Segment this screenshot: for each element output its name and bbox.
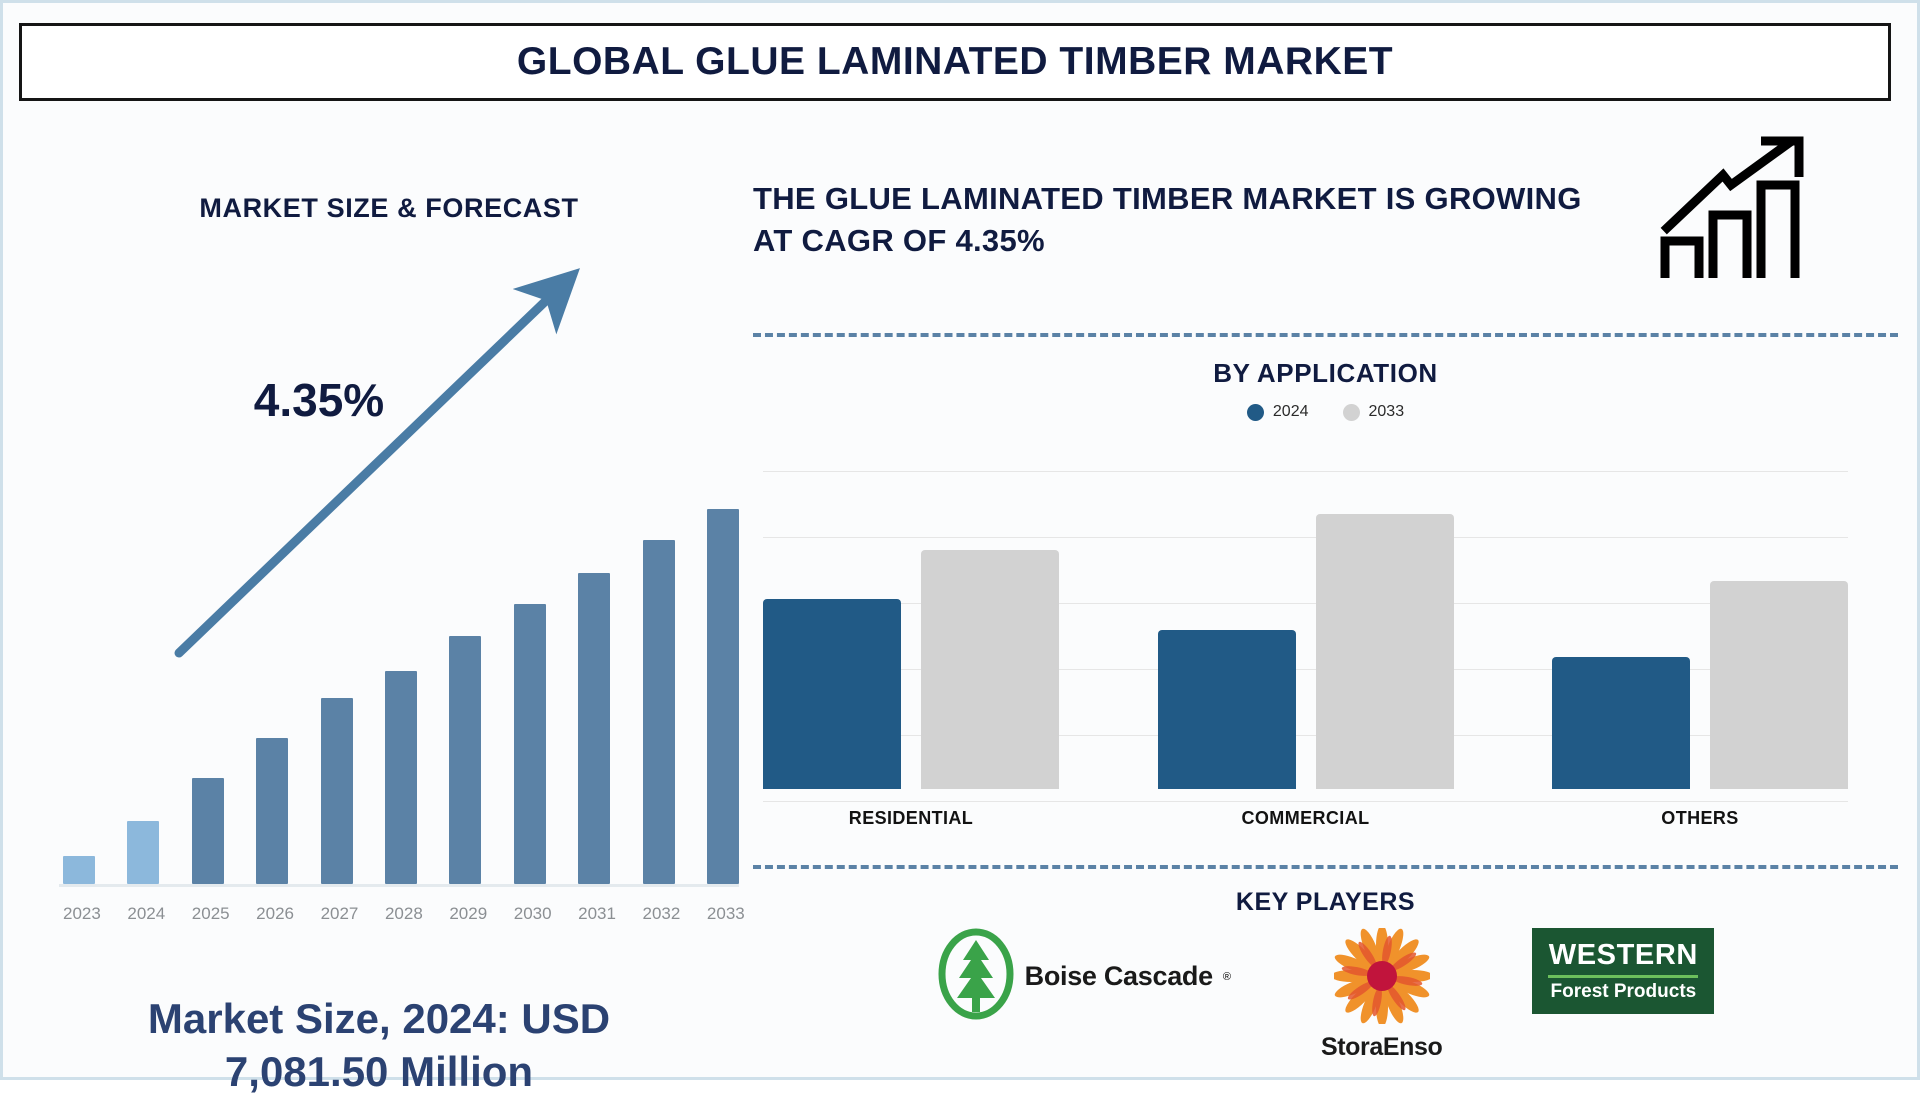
page-title: GLOBAL GLUE LAMINATED TIMBER MARKET [517,40,1393,84]
year-label: 2025 [192,904,224,924]
year-axis-labels: 2023 2024 2025 2026 2027 2028 2029 2030 … [63,897,739,931]
year-label: 2028 [385,904,417,924]
group-others [1552,581,1848,789]
year-label: 2033 [707,904,739,924]
legend-item-2033: 2033 [1343,403,1405,421]
bar-others-2033 [1710,581,1848,789]
gridline [763,471,1848,472]
registered-mark: ® [1223,971,1231,983]
market-size-value: Market Size, 2024: USD 7,081.50 Million [29,993,729,1098]
growth-bar-chart-arrow-icon [1653,133,1813,283]
category-label-commercial: COMMERCIAL [1158,808,1454,829]
bar-2029 [449,636,481,884]
key-players-list: Boise Cascade ® [753,928,1898,1063]
bar-2028 [385,671,417,884]
right-panel: THE GLUE LAMINATED TIMBER MARKET IS GROW… [748,113,1908,1063]
market-size-forecast-panel: MARKET SIZE & FORECAST 4.35% [19,113,739,1063]
market-size-heading: MARKET SIZE & FORECAST [129,193,649,224]
bar-2033 [707,509,739,884]
year-label: 2032 [643,904,675,924]
year-label: 2024 [127,904,159,924]
player-boise-cascade: Boise Cascade ® [937,928,1231,1025]
group-commercial [1158,514,1454,789]
player-western-forest-products: WESTERN Forest Products [1532,928,1714,1014]
market-size-line-1: Market Size, 2024: USD [29,993,729,1046]
by-application-title: BY APPLICATION [753,358,1898,389]
year-label: 2026 [256,904,288,924]
bar-2025 [192,778,224,884]
market-size-bar-chart: 2023 2024 2025 2026 2027 2028 2029 2030 … [49,533,739,973]
legend-label-2024: 2024 [1273,403,1309,421]
key-players-title: KEY PLAYERS [753,888,1898,917]
bar-others-2024 [1552,657,1690,789]
boise-cascade-label: Boise Cascade [1025,961,1213,992]
bar-2024 [127,821,159,884]
bar-series [63,564,739,884]
year-label: 2027 [321,904,353,924]
divider-bottom [753,865,1898,869]
legend-label-2033: 2033 [1369,403,1405,421]
application-chart-legend: 2024 2033 [753,403,1898,421]
infographic-page: GLOBAL GLUE LAMINATED TIMBER MARKET MARK… [0,0,1920,1080]
category-label-others: OTHERS [1552,808,1848,829]
year-label: 2030 [514,904,546,924]
bar-commercial-2024 [1158,630,1296,789]
legend-dot-2024-icon [1247,404,1264,421]
western-label: WESTERN [1549,941,1698,970]
boise-cascade-tree-logo-icon [937,928,1015,1025]
legend-item-2024: 2024 [1247,403,1309,421]
year-label: 2031 [578,904,610,924]
title-bar: GLOBAL GLUE LAMINATED TIMBER MARKET [19,23,1891,101]
forest-products-label: Forest Products [1551,982,1697,1001]
group-residential [763,550,1059,789]
market-size-line-2: 7,081.50 Million [29,1046,729,1098]
logo-rule [1548,975,1698,978]
bar-commercial-2033 [1316,514,1454,789]
legend-dot-2033-icon [1343,404,1360,421]
cagr-statement: THE GLUE LAMINATED TIMBER MARKET IS GROW… [753,178,1613,261]
category-axis-labels: RESIDENTIAL COMMERCIAL OTHERS [763,801,1848,835]
bar-2026 [256,738,288,884]
bar-2032 [643,540,675,884]
category-label-residential: RESIDENTIAL [763,808,1059,829]
western-forest-products-logo-icon: WESTERN Forest Products [1532,928,1714,1014]
bar-2031 [578,573,610,884]
chart-baseline [59,884,739,887]
bar-2027 [321,698,353,884]
bar-2023 [63,856,95,884]
bar-groups [763,483,1848,789]
storaenso-label: StoraEnso [1321,1033,1442,1062]
storaenso-sunburst-logo-icon [1334,928,1430,1029]
bar-residential-2033 [921,550,1059,789]
bar-2030 [514,604,546,884]
year-label: 2029 [449,904,481,924]
year-label: 2023 [63,904,95,924]
bar-residential-2024 [763,599,901,789]
player-storaenso: StoraEnso [1321,928,1442,1062]
divider-top [753,333,1898,337]
by-application-bar-chart: RESIDENTIAL COMMERCIAL OTHERS [753,443,1898,843]
